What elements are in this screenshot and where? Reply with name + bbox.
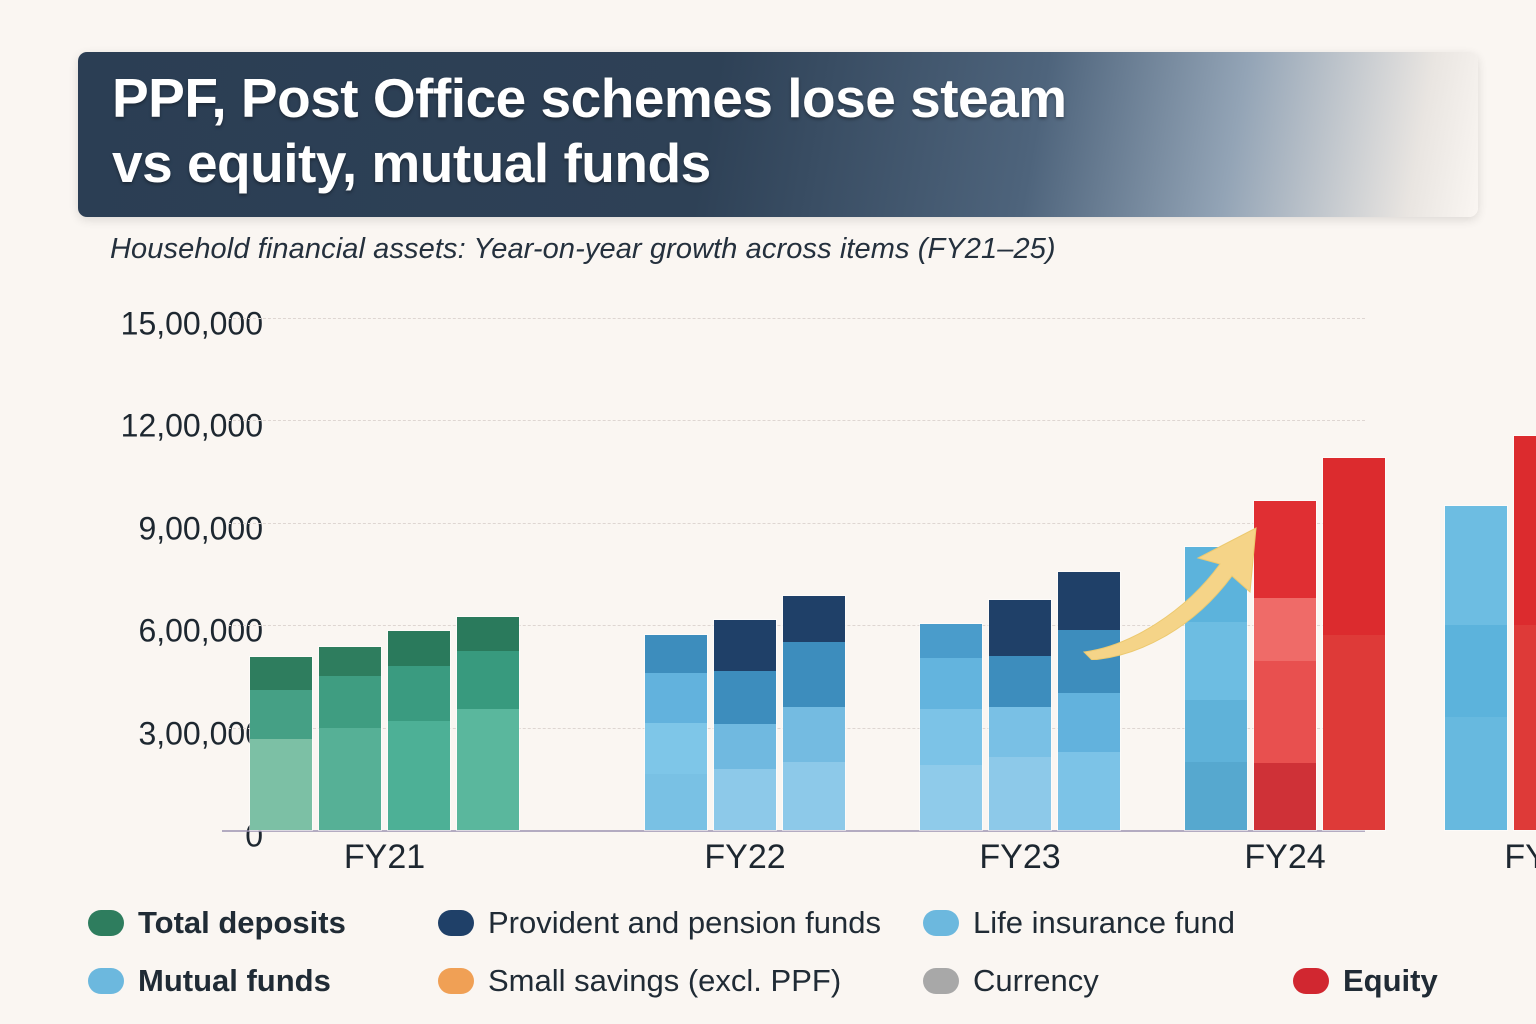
bar-segment <box>645 635 707 673</box>
legend-label: Mutual funds <box>138 963 331 999</box>
x-axis-tick-label: FY23 <box>979 838 1060 877</box>
bar-segment <box>1185 700 1247 761</box>
legend-swatch-icon <box>88 910 124 936</box>
bar-segment <box>1058 630 1120 693</box>
bar <box>714 620 776 830</box>
bar-segment <box>989 707 1051 756</box>
bar-segment <box>1254 661 1316 763</box>
y-axis-tick-label: 0 <box>3 818 263 855</box>
bar-segment <box>1185 622 1247 701</box>
legend-swatch-icon <box>1293 968 1329 994</box>
page-title: PPF, Post Office schemes lose steam vs e… <box>112 66 1458 196</box>
legend-label: Total deposits <box>138 905 346 941</box>
bar-segment <box>783 596 845 642</box>
y-axis-tick-label: 6,00,000 <box>3 613 263 650</box>
bar-segment <box>920 658 982 709</box>
bar-segment <box>1058 572 1120 630</box>
y-axis-tick-label: 9,00,000 <box>3 510 263 547</box>
bar <box>319 647 381 830</box>
bar-segment <box>319 647 381 676</box>
bar-segment <box>1058 693 1120 751</box>
bar <box>989 600 1051 830</box>
bar-segment <box>645 673 707 722</box>
bar-segment <box>1514 436 1536 625</box>
bar-segment <box>920 624 982 658</box>
bar-segment <box>1254 763 1316 830</box>
gridline <box>228 523 1365 524</box>
bar <box>645 635 707 830</box>
legend-item[interactable]: Total deposits <box>88 905 346 941</box>
legend-label: Provident and pension funds <box>488 905 881 941</box>
x-axis-tick-label: FY24 <box>1244 838 1325 877</box>
bar-segment <box>920 709 982 765</box>
bar-segment <box>783 762 845 830</box>
bar-segment <box>250 657 312 690</box>
bar-segment <box>1445 625 1507 717</box>
bar <box>1058 572 1120 830</box>
title-banner: PPF, Post Office schemes lose steam vs e… <box>78 52 1478 217</box>
bar-segment <box>1185 547 1247 622</box>
bar <box>1254 501 1316 830</box>
bar-segment <box>989 757 1051 830</box>
bar-segment <box>319 728 381 830</box>
legend-swatch-icon <box>923 910 959 936</box>
gridline <box>228 318 1365 319</box>
bar <box>457 617 519 830</box>
bar-segment <box>714 620 776 671</box>
bar-segment <box>1323 635 1385 830</box>
bar <box>783 596 845 830</box>
bar-segment <box>1254 501 1316 598</box>
bar <box>1445 506 1507 830</box>
bar-segment <box>457 709 519 830</box>
bar <box>388 631 450 830</box>
bar-segment <box>1254 598 1316 661</box>
bar-segment <box>388 666 450 721</box>
bar-segment <box>989 600 1051 656</box>
bar-segment <box>388 631 450 665</box>
chart-legend: Total depositsProvident and pension fund… <box>88 905 1488 1020</box>
bar-segment <box>457 651 519 709</box>
x-axis-tick-label: FY25 <box>1504 838 1536 877</box>
bar-segment <box>783 707 845 762</box>
bar-segment <box>1323 458 1385 635</box>
bar <box>1323 458 1385 830</box>
legend-item[interactable]: Mutual funds <box>88 963 331 999</box>
legend-label: Currency <box>973 963 1099 999</box>
bar-segment <box>714 769 776 830</box>
gridline <box>228 420 1365 421</box>
bar-segment <box>250 690 312 738</box>
chart-page: PPF, Post Office schemes lose steam vs e… <box>0 0 1536 1024</box>
bar <box>920 624 982 831</box>
legend-item[interactable]: Provident and pension funds <box>438 905 881 941</box>
bar-segment <box>783 642 845 707</box>
legend-swatch-icon <box>438 968 474 994</box>
y-axis-tick-label: 15,00,000 <box>3 306 263 343</box>
bar-segment <box>989 656 1051 707</box>
chart-subtitle: Household financial assets: Year-on-year… <box>110 233 1056 266</box>
legend-item[interactable]: Equity <box>1293 963 1438 999</box>
bar-segment <box>1185 762 1247 830</box>
bar <box>250 657 312 830</box>
bar-segment <box>1445 717 1507 830</box>
bar-segment <box>1514 625 1536 830</box>
bar <box>1514 436 1536 830</box>
legend-item[interactable]: Currency <box>923 963 1099 999</box>
plot-area <box>228 318 1365 830</box>
bar-segment <box>388 721 450 830</box>
bar-segment <box>645 723 707 774</box>
y-axis-tick-label: 3,00,000 <box>3 715 263 752</box>
legend-label: Equity <box>1343 963 1438 999</box>
legend-label: Life insurance fund <box>973 905 1235 941</box>
legend-label: Small savings (excl. PPF) <box>488 963 841 999</box>
legend-swatch-icon <box>438 910 474 936</box>
bar <box>1185 547 1247 830</box>
bar-segment <box>250 739 312 830</box>
bar-segment <box>457 617 519 651</box>
bar-segment <box>1445 506 1507 625</box>
bar-segment <box>920 765 982 830</box>
bar-segment <box>319 676 381 727</box>
legend-item[interactable]: Life insurance fund <box>923 905 1235 941</box>
bar-segment <box>714 671 776 724</box>
bar-segment <box>645 774 707 830</box>
x-axis-tick-label: FY21 <box>344 838 425 877</box>
legend-item[interactable]: Small savings (excl. PPF) <box>438 963 841 999</box>
legend-swatch-icon <box>88 968 124 994</box>
legend-swatch-icon <box>923 968 959 994</box>
x-axis-labels: FY21FY22FY23FY24FY25 <box>228 838 1365 898</box>
y-axis-tick-label: 12,00,000 <box>3 408 263 445</box>
bar-segment <box>714 724 776 768</box>
bar-segment <box>1058 752 1120 831</box>
x-axis-tick-label: FY22 <box>704 838 785 877</box>
